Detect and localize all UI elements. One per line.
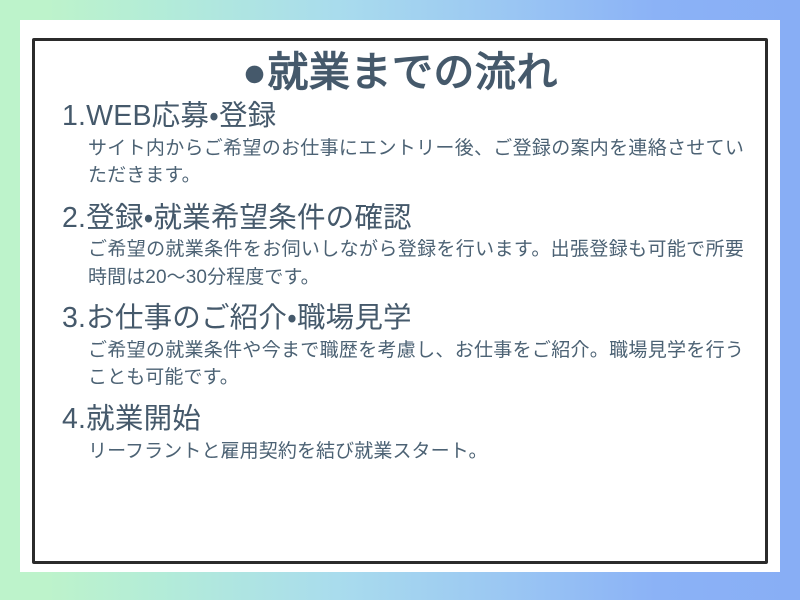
step-body-1: サイト内からご希望のお仕事にエントリー後、ご登録の案内を連絡させていただきます。 xyxy=(48,135,752,190)
step-item-1: 1.WEB応募・登録 サイト内からご希望のお仕事にエントリー後、ご登録の案内を連… xyxy=(48,100,752,189)
step-body-2: ご希望の就業条件をお伺いしながら登録を行います。出張登録も可能で所要時間は20～… xyxy=(48,236,752,291)
slide-background: ●就業までの流れ 1.WEB応募・登録 サイト内からご希望のお仕事にエントリー後… xyxy=(0,0,800,600)
step-item-2: 2.登録・就業希望条件の確認 ご希望の就業条件をお伺いしながら登録を行います。出… xyxy=(48,202,752,291)
step-heading-2: 2.登録・就業希望条件の確認 xyxy=(48,202,752,236)
step-heading-3: 3.お仕事のご紹介・職場見学 xyxy=(48,302,752,336)
page-title: ●就業までの流れ xyxy=(48,50,752,94)
step-body-3: ご希望の就業条件や今まで職歴を考慮し、お仕事をご紹介。職場見学を行うことも可能で… xyxy=(48,337,752,392)
step-item-3: 3.お仕事のご紹介・職場見学 ご希望の就業条件や今まで職歴を考慮し、お仕事をご紹… xyxy=(48,302,752,391)
step-heading-4: 4.就業開始 xyxy=(48,403,752,437)
slide-content: ●就業までの流れ 1.WEB応募・登録 サイト内からご希望のお仕事にエントリー後… xyxy=(32,38,768,564)
step-item-4: 4.就業開始 リーフラントと雇用契約を結び就業スタート。 xyxy=(48,403,752,465)
step-heading-1: 1.WEB応募・登録 xyxy=(48,100,752,134)
step-body-4: リーフラントと雇用契約を結び就業スタート。 xyxy=(48,438,752,465)
